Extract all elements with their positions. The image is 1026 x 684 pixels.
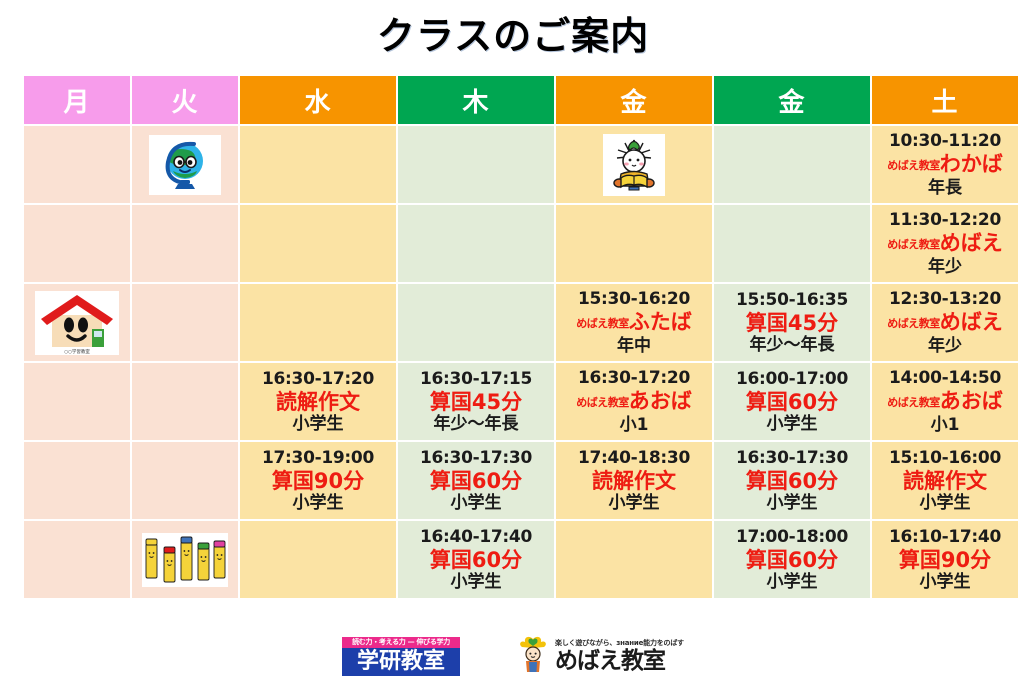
empty-cell	[398, 205, 554, 282]
class-cell[interactable]: 11:30-12:20めばえ教室めばえ年少	[872, 205, 1018, 282]
class-name: 算国60分	[715, 469, 869, 493]
class-target-grade: 小学生	[241, 414, 395, 435]
class-cell[interactable]: 16:30-17:20読解作文小学生	[240, 363, 396, 440]
class-brand-prefix: めばえ教室	[887, 317, 940, 330]
class-name: 算国60分	[399, 469, 553, 493]
class-name-label: 算国60分	[430, 469, 522, 493]
class-time: 15:30-16:20	[557, 289, 711, 310]
class-cell[interactable]: 10:30-11:20めばえ教室わかば年長	[872, 126, 1018, 203]
empty-cell	[24, 363, 130, 440]
class-time: 16:30-17:20	[241, 369, 395, 390]
footer-logos: 読む力・考える力 — 伸びる学力 学研教室 楽しく遊びながら、знание能力を…	[0, 634, 1026, 678]
illustration-cell	[556, 126, 712, 203]
class-cell[interactable]: 17:40-18:30読解作文小学生	[556, 442, 712, 519]
class-time: 16:30-17:30	[715, 448, 869, 469]
class-time: 16:10-17:40	[873, 527, 1017, 548]
class-name: 算国90分	[241, 469, 395, 493]
empty-cell	[132, 205, 238, 282]
class-target-grade: 年少〜年長	[715, 335, 869, 356]
class-name: 算国45分	[399, 390, 553, 414]
class-target-grade: 年中	[557, 336, 711, 357]
class-target-grade: 小学生	[715, 493, 869, 514]
illustration-cell: ○○学習教室	[24, 284, 130, 361]
mebae-tagline: 楽しく遊びながら、знание能力をのばす	[555, 638, 684, 648]
class-cell[interactable]: 16:40-17:40算国60分小学生	[398, 521, 554, 598]
empty-cell	[398, 284, 554, 361]
smiling-pencils-illustration	[142, 533, 228, 587]
class-cell[interactable]: 16:30-17:30算国60分小学生	[398, 442, 554, 519]
gakken-logo-name: 学研教室	[342, 648, 460, 676]
class-cell[interactable]: 17:30-19:00算国90分小学生	[240, 442, 396, 519]
mebae-mascot-icon	[516, 635, 550, 677]
empty-cell	[240, 521, 396, 598]
class-time: 16:30-17:15	[399, 369, 553, 390]
class-name-label: 読解作文	[276, 390, 360, 414]
column-header-fri1: 金	[556, 76, 712, 124]
class-brand-prefix: めばえ教室	[887, 238, 940, 251]
empty-cell	[240, 205, 396, 282]
class-target-grade: 小学生	[715, 414, 869, 435]
column-header-thu: 木	[398, 76, 554, 124]
class-brand-prefix: めばえ教室	[887, 396, 940, 409]
class-target-grade: 小学生	[399, 493, 553, 514]
class-name: 算国60分	[715, 390, 869, 414]
class-name-label: あおば	[940, 389, 1003, 413]
class-brand-prefix: めばえ教室	[576, 317, 629, 330]
class-name-label: 算国60分	[746, 548, 838, 572]
timetable-body: 10:30-11:20めばえ教室わかば年長11:30-12:20めばえ教室めばえ…	[24, 126, 1018, 598]
class-name-label: ふたば	[629, 310, 692, 334]
class-target-grade: 年長	[873, 178, 1017, 199]
class-time: 16:00-17:00	[715, 369, 869, 390]
class-name: 算国45分	[715, 311, 869, 335]
mebae-logo-name: めばえ教室	[555, 648, 665, 675]
class-time: 17:00-18:00	[715, 527, 869, 548]
class-name-label: めばえ	[940, 310, 1003, 334]
class-cell[interactable]: 15:30-16:20めばえ教室ふたば年中	[556, 284, 712, 361]
class-target-grade: 年少〜年長	[399, 414, 553, 435]
class-name-label: 算国60分	[746, 469, 838, 493]
class-name-label: 読解作文	[903, 469, 987, 493]
class-time: 12:30-13:20	[873, 289, 1017, 310]
class-name: 算国60分	[399, 548, 553, 572]
class-time: 16:40-17:40	[399, 527, 553, 548]
class-time: 15:50-16:35	[715, 290, 869, 311]
class-name-label: 算国45分	[430, 390, 522, 414]
empty-cell	[714, 126, 870, 203]
class-name: 読解作文	[557, 469, 711, 493]
class-name: めばえ教室ふたば	[557, 310, 711, 336]
class-name-label: 算国45分	[746, 311, 838, 335]
class-cell[interactable]: 12:30-13:20めばえ教室めばえ年少	[872, 284, 1018, 361]
class-name: めばえ教室あおば	[557, 389, 711, 415]
class-target-grade: 小学生	[873, 493, 1017, 514]
class-name-label: 算国60分	[746, 390, 838, 414]
table-row: 10:30-11:20めばえ教室わかば年長	[24, 126, 1018, 203]
empty-cell	[132, 363, 238, 440]
column-header-tue: 火	[132, 76, 238, 124]
class-brand-prefix: めばえ教室	[576, 396, 629, 409]
class-time: 11:30-12:20	[873, 210, 1017, 231]
class-name-label: 算国60分	[430, 548, 522, 572]
class-cell[interactable]: 16:00-17:00算国60分小学生	[714, 363, 870, 440]
table-row: 16:30-17:20読解作文小学生16:30-17:15算国45分年少〜年長1…	[24, 363, 1018, 440]
class-cell[interactable]: 15:50-16:35算国45分年少〜年長	[714, 284, 870, 361]
empty-cell	[24, 442, 130, 519]
column-header-sat: 土	[872, 76, 1018, 124]
empty-cell	[714, 205, 870, 282]
class-time: 17:30-19:00	[241, 448, 395, 469]
mebae-kyoshitsu-logo: 楽しく遊びながら、знание能力をのばす めばえ教室	[516, 635, 684, 677]
empty-cell	[556, 521, 712, 598]
svg-text:○○学習教室: ○○学習教室	[64, 348, 90, 355]
table-row: ○○学習教室15:30-16:20めばえ教室ふたば年中15:50-16:35算国…	[24, 284, 1018, 361]
table-row: 17:30-19:00算国90分小学生16:30-17:30算国60分小学生17…	[24, 442, 1018, 519]
mebae-logo-text: 楽しく遊びながら、знание能力をのばす めばえ教室	[555, 638, 684, 675]
class-time: 16:30-17:20	[557, 368, 711, 389]
illustration-cell	[132, 521, 238, 598]
class-name: 算国60分	[715, 548, 869, 572]
column-header-mon: 月	[24, 76, 130, 124]
gakken-tagline: 読む力・考える力 — 伸びる学力	[342, 637, 460, 648]
class-name: めばえ教室あおば	[873, 389, 1017, 415]
class-name: 算国90分	[873, 548, 1017, 572]
child-reading-illustration	[603, 134, 665, 196]
page-title: クラスのご案内	[0, 12, 1026, 60]
column-header-wed: 水	[240, 76, 396, 124]
class-cell[interactable]: 16:30-17:20めばえ教室あおば小1	[556, 363, 712, 440]
class-name: めばえ教室めばえ	[873, 310, 1017, 336]
empty-cell	[398, 126, 554, 203]
class-name-label: 算国90分	[899, 548, 991, 572]
class-cell[interactable]: 16:10-17:40算国90分小学生	[872, 521, 1018, 598]
class-schedule-page: クラスのご案内 月 火 水 木 金 金 土 10:30-11:20めばえ教室わか…	[0, 0, 1026, 684]
class-target-grade: 小学生	[873, 572, 1017, 593]
class-name-label: わかば	[940, 152, 1003, 176]
empty-cell	[24, 205, 130, 282]
empty-cell	[132, 284, 238, 361]
empty-cell	[24, 126, 130, 203]
class-cell[interactable]: 16:30-17:30算国60分小学生	[714, 442, 870, 519]
table-row: 16:40-17:40算国60分小学生17:00-18:00算国60分小学生16…	[24, 521, 1018, 598]
class-time: 15:10-16:00	[873, 448, 1017, 469]
class-cell[interactable]: 17:00-18:00算国60分小学生	[714, 521, 870, 598]
class-target-grade: 年少	[873, 257, 1017, 278]
class-cell[interactable]: 15:10-16:00読解作文小学生	[872, 442, 1018, 519]
gakken-kyoshitsu-logo: 読む力・考える力 — 伸びる学力 学研教室	[342, 637, 460, 676]
class-name: めばえ教室めばえ	[873, 231, 1017, 257]
class-name: めばえ教室わかば	[873, 152, 1017, 178]
globe-illustration	[149, 135, 221, 195]
class-target-grade: 小学生	[557, 493, 711, 514]
class-target-grade: 小1	[557, 415, 711, 436]
class-target-grade: 小学生	[715, 572, 869, 593]
class-timetable: 月 火 水 木 金 金 土 10:30-11:20めばえ教室わかば年長11:30…	[22, 74, 1020, 600]
class-target-grade: 小学生	[241, 493, 395, 514]
empty-cell	[132, 442, 238, 519]
class-name-label: 算国90分	[272, 469, 364, 493]
class-time: 10:30-11:20	[873, 131, 1017, 152]
class-target-grade: 小学生	[399, 572, 553, 593]
class-target-grade: 小1	[873, 415, 1017, 436]
column-header-fri2: 金	[714, 76, 870, 124]
class-time: 14:00-14:50	[873, 368, 1017, 389]
class-name-label: あおば	[629, 389, 692, 413]
class-name-label: 読解作文	[592, 469, 676, 493]
class-time: 17:40-18:30	[557, 448, 711, 469]
table-row: 11:30-12:20めばえ教室めばえ年少	[24, 205, 1018, 282]
empty-cell	[24, 521, 130, 598]
class-cell[interactable]: 16:30-17:15算国45分年少〜年長	[398, 363, 554, 440]
empty-cell	[240, 126, 396, 203]
class-brand-prefix: めばえ教室	[887, 159, 940, 172]
class-name: 読解作文	[241, 390, 395, 414]
class-time: 16:30-17:30	[399, 448, 553, 469]
class-name: 読解作文	[873, 469, 1017, 493]
class-target-grade: 年少	[873, 336, 1017, 357]
class-name-label: めばえ	[940, 231, 1003, 255]
empty-cell	[556, 205, 712, 282]
empty-cell	[240, 284, 396, 361]
illustration-cell	[132, 126, 238, 203]
timetable-header-row: 月 火 水 木 金 金 土	[24, 76, 1018, 124]
smiling-house-illustration: ○○学習教室	[35, 291, 119, 355]
class-cell[interactable]: 14:00-14:50めばえ教室あおば小1	[872, 363, 1018, 440]
